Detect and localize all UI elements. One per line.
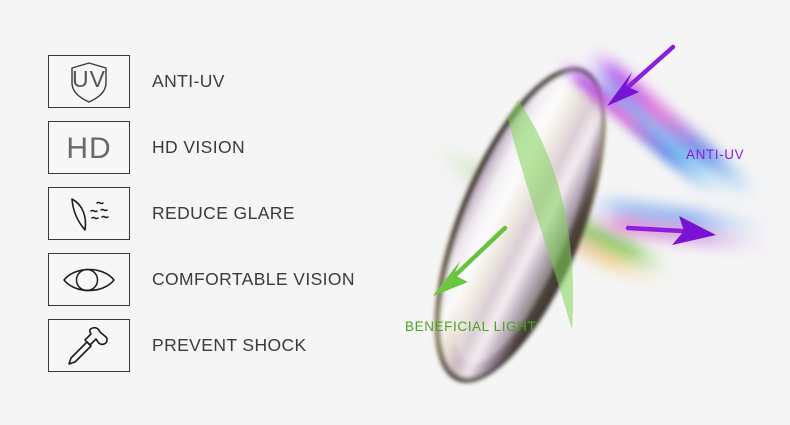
beneficial-light-ray-label: BENEFICIAL LIGHT (405, 319, 536, 334)
feature-label-hd-vision: HD VISION (152, 137, 245, 158)
uv-icon-label: UV (72, 66, 106, 92)
lens-light-diagram-svg (400, 0, 790, 425)
feature-list: UV ANTI-UV HD HD VISION (48, 55, 408, 385)
hd-text-icon-box: HD (48, 121, 130, 174)
anti-uv-ray-label: ANTI-UV (686, 147, 744, 162)
glare-reflection-icon (63, 193, 115, 235)
eye-icon (61, 264, 117, 296)
eye-icon-box (48, 253, 130, 306)
feature-label-reduce-glare: REDUCE GLARE (152, 203, 295, 224)
uv-shield-icon: UV (66, 60, 112, 104)
feature-label-anti-uv: ANTI-UV (152, 71, 225, 92)
feature-row-prevent-shock: PREVENT SHOCK (48, 319, 408, 372)
product-feature-panel: UV ANTI-UV HD HD VISION (0, 0, 790, 425)
feature-label-prevent-shock: PREVENT SHOCK (152, 335, 307, 356)
hd-text-icon: HD (59, 128, 119, 168)
uv-shield-icon-box: UV (48, 55, 130, 108)
feature-row-anti-uv: UV ANTI-UV (48, 55, 408, 108)
glare-reflection-icon-box (48, 187, 130, 240)
hammer-icon-box (48, 319, 130, 372)
lens-light-diagram (400, 0, 790, 425)
hammer-icon (63, 324, 115, 368)
feature-row-reduce-glare: REDUCE GLARE (48, 187, 408, 240)
feature-row-comfortable-vision: COMFORTABLE VISION (48, 253, 408, 306)
hd-icon-label: HD (66, 132, 111, 165)
feature-row-hd-vision: HD HD VISION (48, 121, 408, 174)
feature-label-comfortable-vision: COMFORTABLE VISION (152, 269, 355, 290)
